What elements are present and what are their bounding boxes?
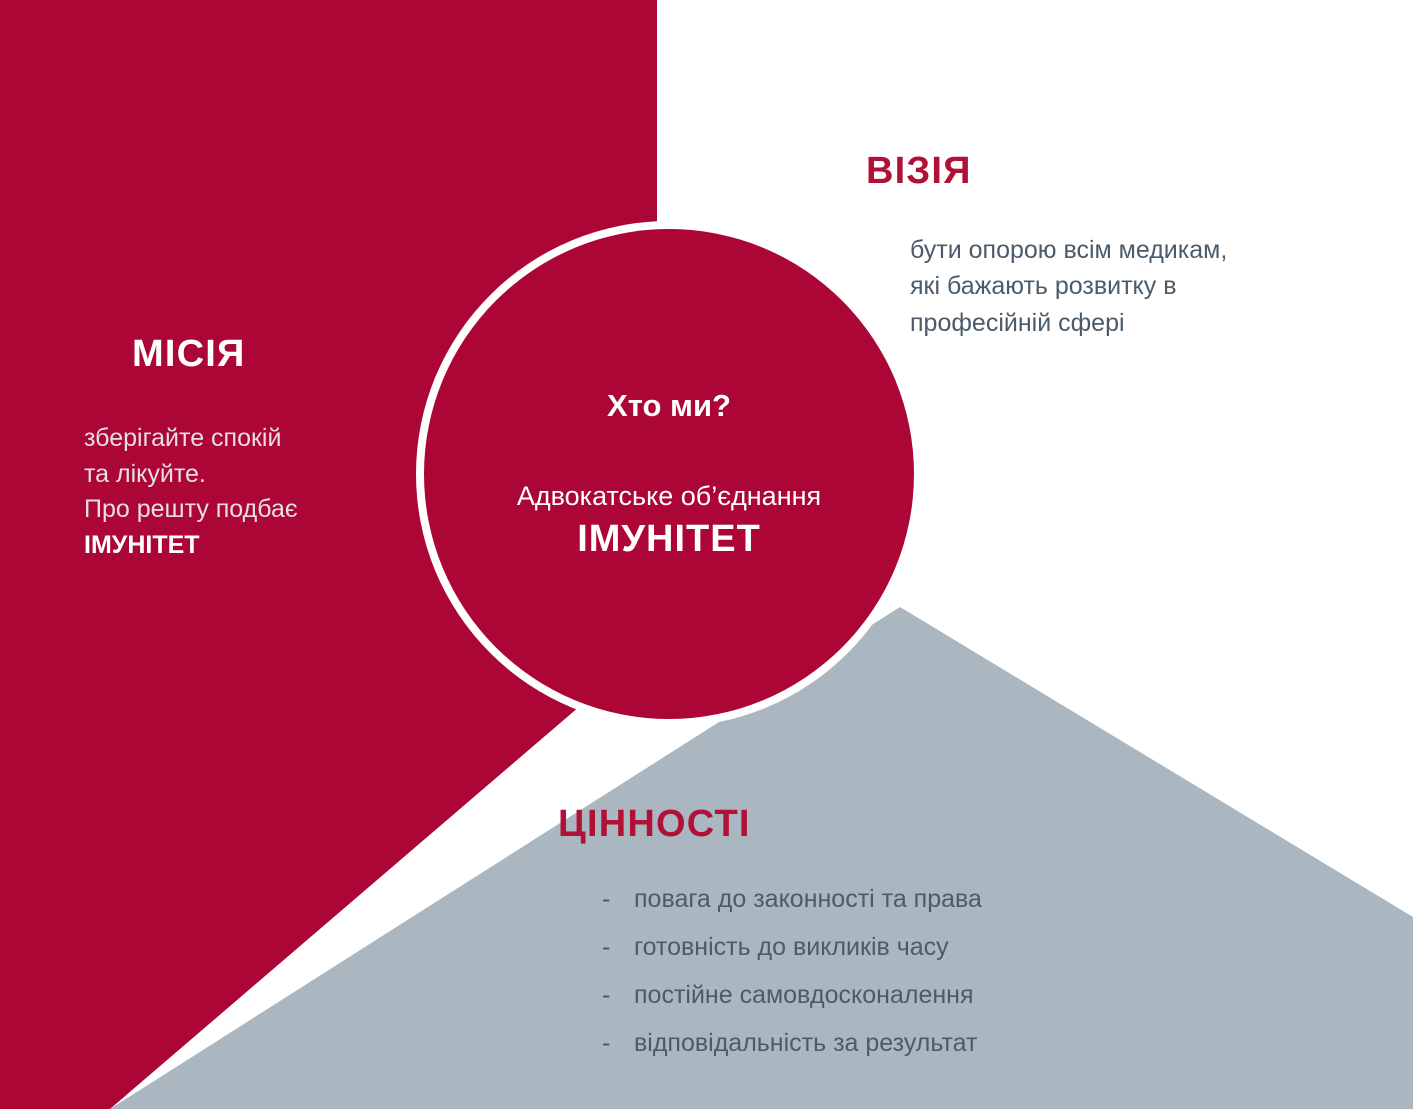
- vision-heading: ВІЗІЯ: [866, 152, 1366, 190]
- list-item: - повага до законності та права: [602, 887, 1198, 912]
- values-list: - повага до законності та права - готовн…: [602, 887, 1198, 1056]
- mission-block: МІСІЯ зберігайте спокій та лікуйте. Про …: [84, 335, 414, 563]
- value-text: повага до законності та права: [634, 887, 982, 912]
- list-item: - готовність до викликів часу: [602, 935, 1198, 960]
- value-text: відповідальність за результат: [634, 1031, 977, 1056]
- bullet-dash: -: [602, 1031, 634, 1056]
- vision-line-1: бути опорою всім медикам,: [910, 236, 1227, 264]
- bullet-dash: -: [602, 887, 634, 912]
- value-text: готовність до викликів часу: [634, 935, 949, 960]
- mission-body: зберігайте спокій та лікуйте. Про решту …: [84, 421, 414, 563]
- mission-line-3: Про решту подбає: [84, 495, 298, 523]
- bullet-dash: -: [602, 983, 634, 1008]
- list-item: - відповідальність за результат: [602, 1031, 1198, 1056]
- mission-line-2: та лікуйте.: [84, 460, 206, 488]
- infographic-canvas: Хто ми? Адвокатське об’єднання ІМУНІТЕТ …: [0, 0, 1413, 1109]
- bullet-dash: -: [602, 935, 634, 960]
- mission-line-4: ІМУНІТЕТ: [84, 531, 200, 559]
- values-block: ЦІННОСТІ - повага до законності та права…: [558, 805, 1198, 1079]
- vision-line-3: професійній сфері: [910, 309, 1125, 337]
- vision-block: ВІЗІЯ бути опорою всім медикам, які бажа…: [866, 152, 1366, 341]
- circle-identity: [424, 229, 914, 719]
- vision-line-2: які бажають розвитку в: [910, 272, 1177, 300]
- mission-line-1: зберігайте спокій: [84, 424, 281, 452]
- value-text: постійне самовдосконалення: [634, 983, 974, 1008]
- values-heading: ЦІННОСТІ: [558, 805, 1198, 843]
- mission-heading: МІСІЯ: [132, 335, 414, 373]
- list-item: - постійне самовдосконалення: [602, 983, 1198, 1008]
- vision-body: бути опорою всім медикам, які бажають ро…: [910, 232, 1366, 341]
